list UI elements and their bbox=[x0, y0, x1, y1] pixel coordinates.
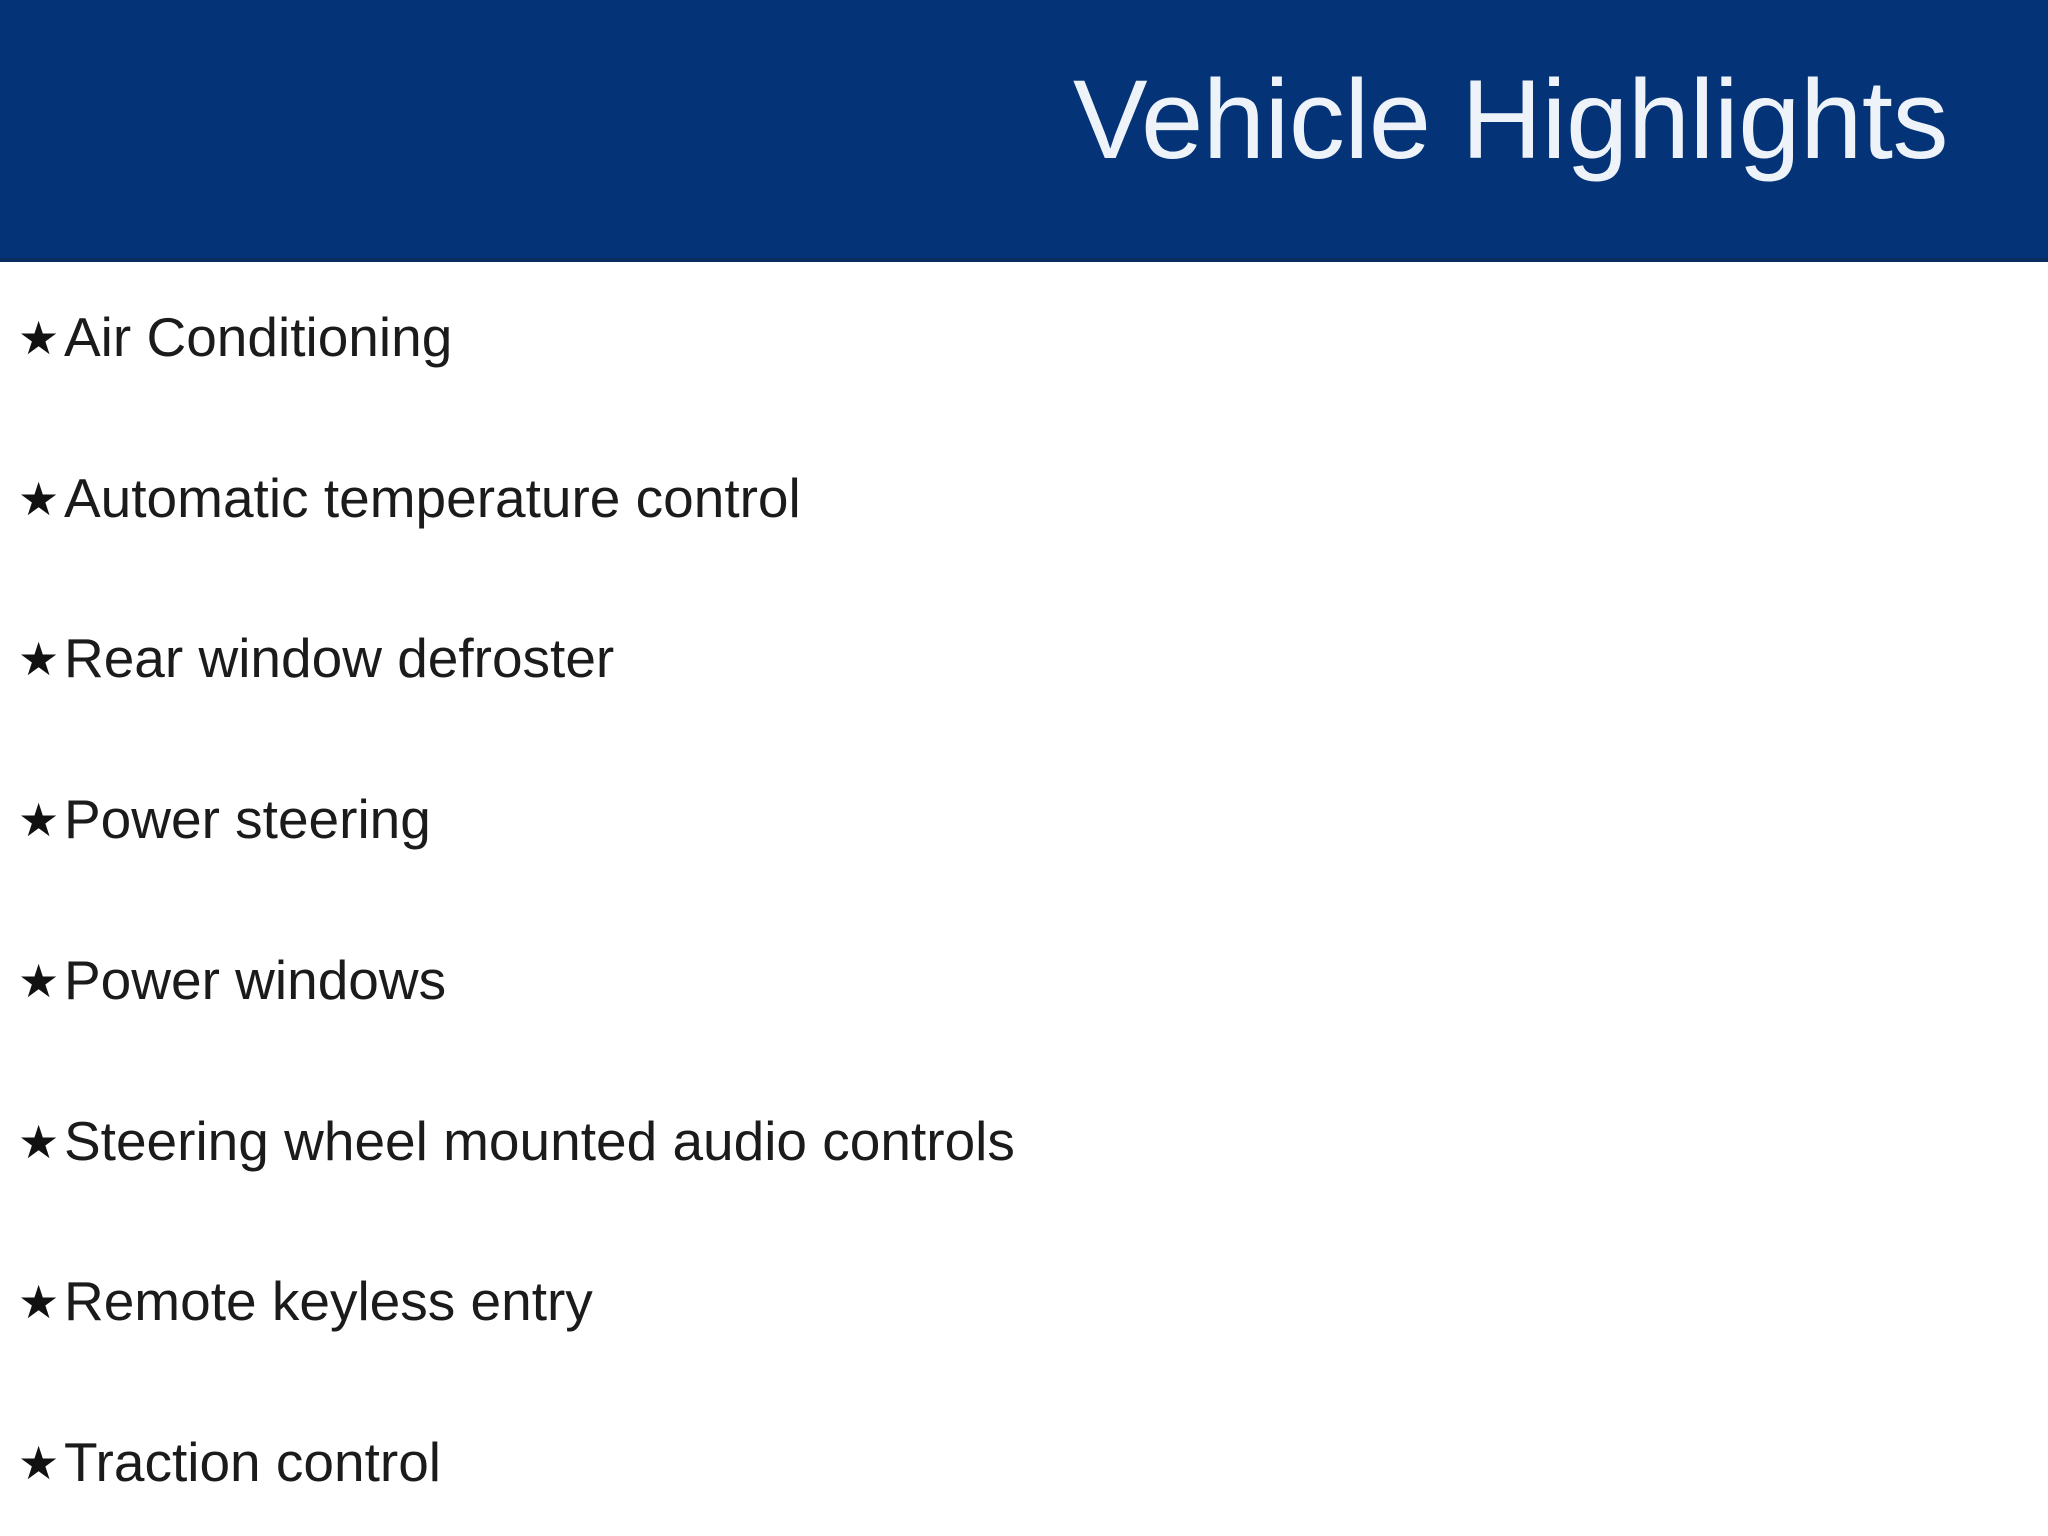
feature-list-item: ★Steering wheel mounted audio controls bbox=[18, 1114, 1015, 1176]
star-icon: ★ bbox=[18, 1279, 64, 1325]
feature-item-label: Remote keyless entry bbox=[64, 1274, 593, 1329]
feature-item-label: Air Conditioning bbox=[64, 310, 452, 365]
star-icon: ★ bbox=[18, 1119, 64, 1165]
feature-item-label: Automatic temperature control bbox=[64, 471, 801, 526]
feature-item-label: Traction control bbox=[64, 1435, 441, 1490]
star-icon: ★ bbox=[18, 636, 64, 682]
star-icon: ★ bbox=[18, 958, 64, 1004]
feature-list-item: ★Power steering bbox=[18, 792, 431, 854]
feature-item-label: Power windows bbox=[64, 953, 446, 1008]
feature-list-item: ★Power windows bbox=[18, 953, 446, 1015]
feature-item-label: Power steering bbox=[64, 792, 431, 847]
feature-list-item: ★Traction control bbox=[18, 1435, 441, 1497]
feature-list-item: ★Remote keyless entry bbox=[18, 1274, 593, 1336]
feature-item-label: Rear window defroster bbox=[64, 631, 614, 686]
feature-item-label: Steering wheel mounted audio controls bbox=[64, 1114, 1015, 1169]
star-icon: ★ bbox=[18, 1440, 64, 1486]
header-banner: Vehicle Highlights bbox=[0, 0, 2048, 258]
page-title: Vehicle Highlights bbox=[1073, 64, 2048, 194]
vehicle-highlights-slide: Vehicle Highlights ★Air Conditioning★Aut… bbox=[0, 0, 2048, 1536]
feature-list-item: ★Air Conditioning bbox=[18, 310, 452, 372]
star-icon: ★ bbox=[18, 476, 64, 522]
star-icon: ★ bbox=[18, 315, 64, 361]
feature-list-item: ★Rear window defroster bbox=[18, 631, 614, 693]
star-icon: ★ bbox=[18, 797, 64, 843]
feature-list-item: ★Automatic temperature control bbox=[18, 471, 801, 533]
feature-list: ★Air Conditioning★Automatic temperature … bbox=[0, 262, 2048, 1536]
